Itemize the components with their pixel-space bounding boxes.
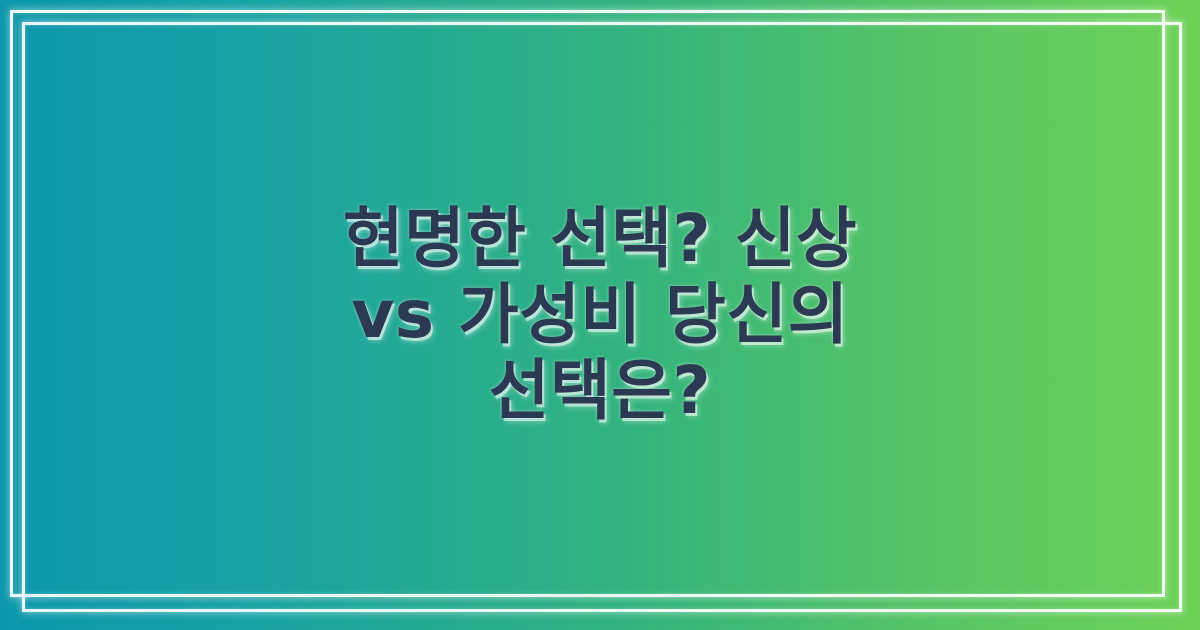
poster-canvas: 현명한 선택? 신상 vs 가성비 당신의 선택은? <box>0 0 1200 630</box>
page-title: 현명한 선택? 신상 vs 가성비 당신의 선택은? <box>300 201 900 429</box>
headline-container: 현명한 선택? 신상 vs 가성비 당신의 선택은? <box>0 0 1200 630</box>
